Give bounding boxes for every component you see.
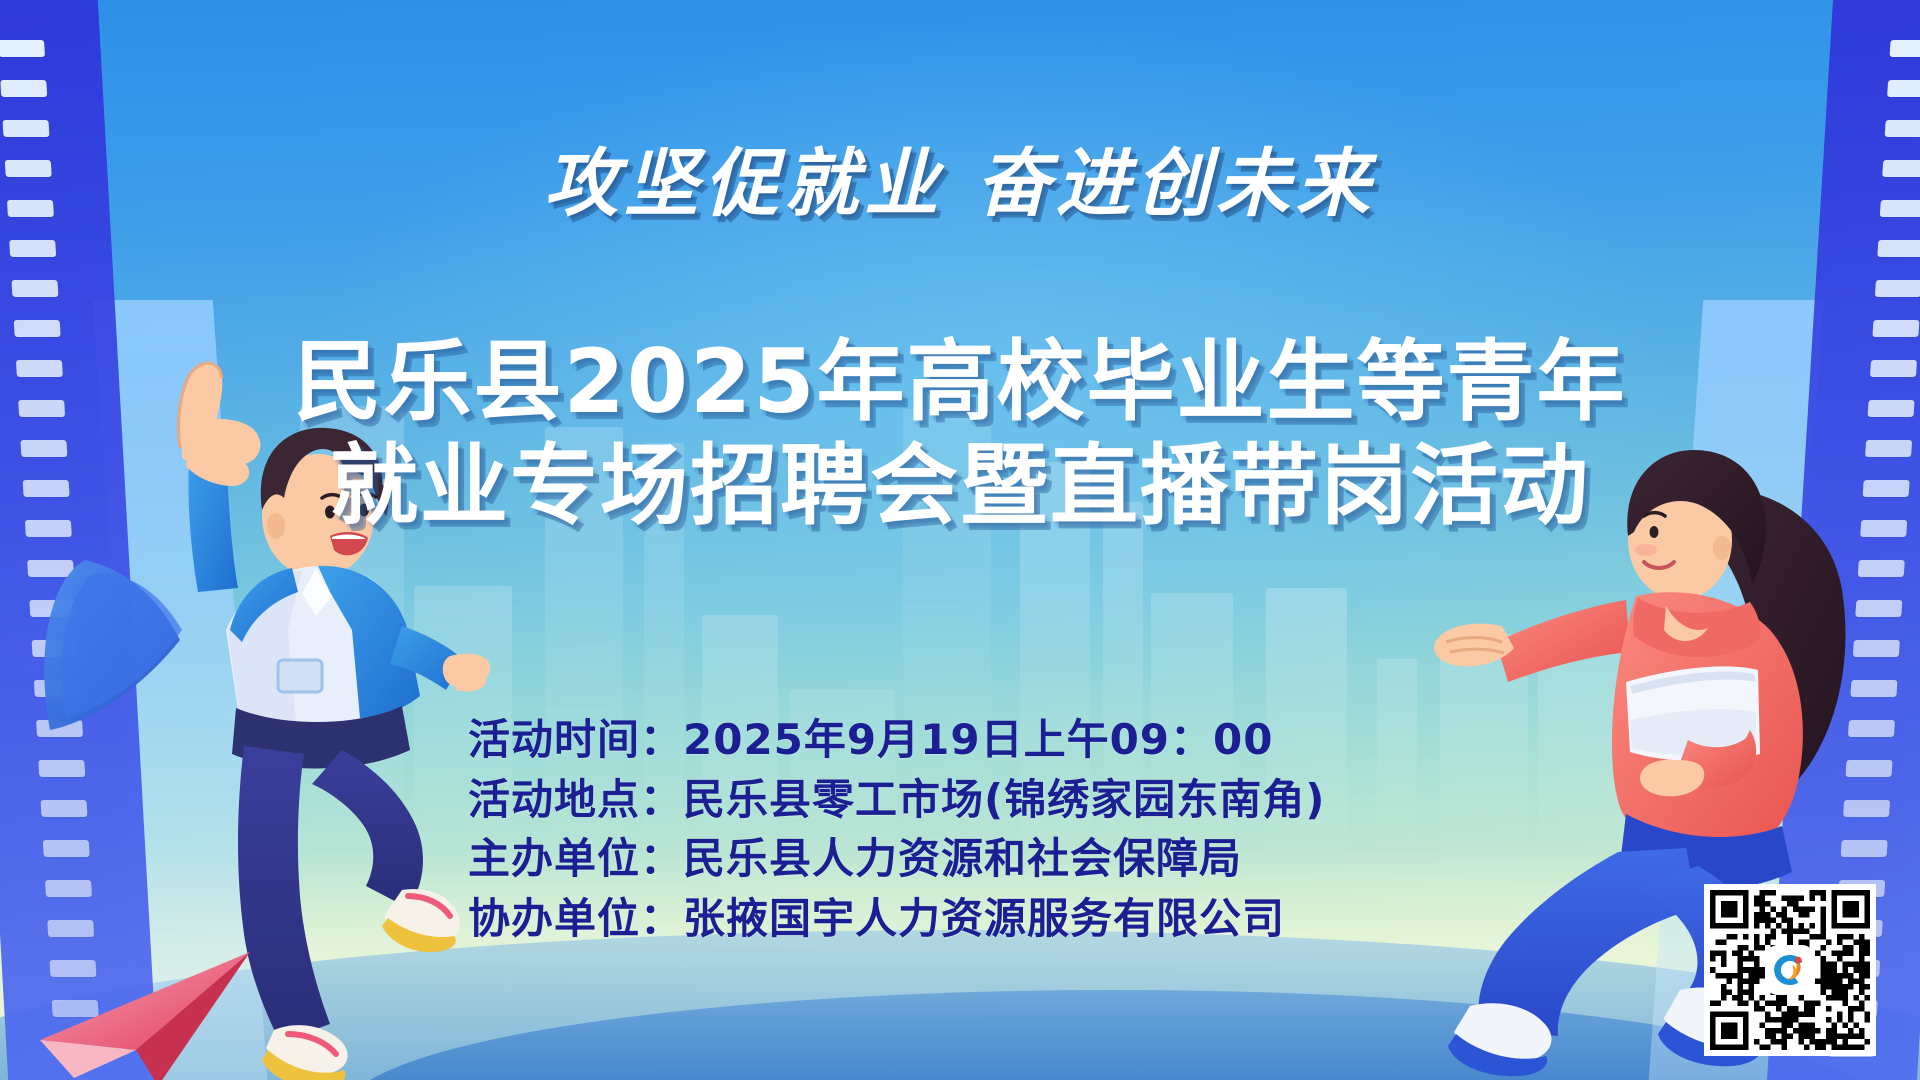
tower-window [1890,40,1920,57]
poster-main-title: 民乐县2025年高校毕业生等青年 就业专场招聘会暨直播带岗活动 [0,330,1920,538]
main-title-line-2: 就业专场招聘会暨直播带岗活动 [0,434,1920,538]
info-line-event-time: 活动时间：2025年9月19日上午09：00 [468,710,1325,770]
tower-window [1875,280,1920,297]
tower-window [1887,80,1920,97]
tower-window [0,40,45,57]
tower-window [1877,240,1920,257]
qr-code[interactable] [1704,884,1876,1056]
tower-window [0,80,47,97]
event-info-block: 活动时间：2025年9月19日上午09：00 活动地点：民乐县零工市场(锦绣家园… [468,710,1325,949]
poster-slogan: 攻坚促就业 奋进创未来 [0,124,1920,231]
main-title-line-1: 民乐县2025年高校毕业生等青年 [0,330,1920,434]
tower-window [11,280,58,297]
recruitment-poster: 攻坚促就业 奋进创未来 民乐县2025年高校毕业生等青年 就业专场招聘会暨直播带… [0,0,1920,1080]
renshe-logo-icon [1767,947,1813,993]
tower-window [9,240,56,257]
info-line-cohost: 协办单位：张掖国宇人力资源服务有限公司 [468,889,1325,949]
info-line-event-place: 活动地点：民乐县零工市场(锦绣家园东南角) [468,770,1325,830]
city-building [1377,659,1417,850]
info-line-host: 主办单位：民乐县人力资源和社会保障局 [468,829,1325,889]
